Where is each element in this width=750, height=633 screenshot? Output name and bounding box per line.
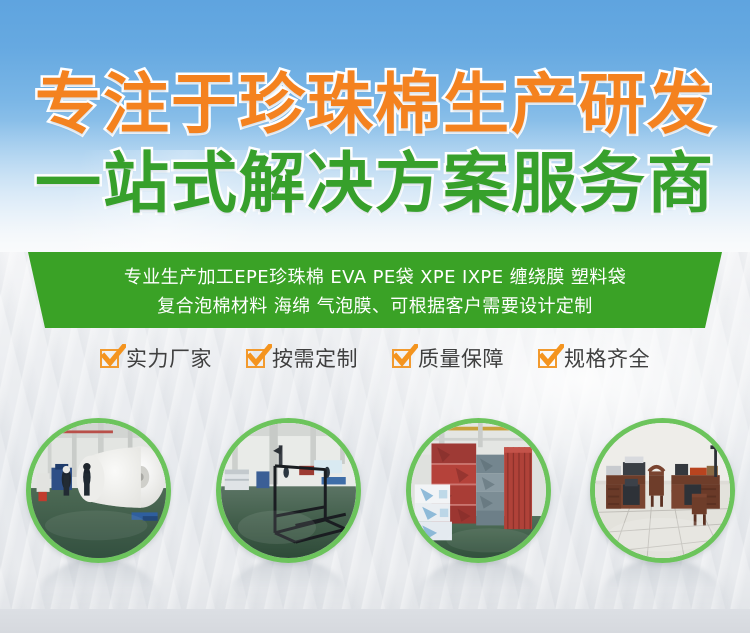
feature-item-2: 质量保障 bbox=[392, 343, 504, 373]
green-banner-text: 专业生产加工EPE珍珠棉 EVA PE袋 XPE IXPE 缠绕膜 塑料袋 复合… bbox=[0, 252, 750, 328]
feature-item-3: 规格齐全 bbox=[538, 343, 650, 373]
check-box-icon bbox=[538, 349, 557, 368]
photo-epe-foam-roll-production bbox=[26, 418, 171, 563]
feature-label-0: 实力厂家 bbox=[126, 343, 212, 373]
bottom-band bbox=[0, 609, 750, 633]
check-box-icon bbox=[392, 349, 411, 368]
headline-line-2: 一站式解决方案服务商 bbox=[0, 151, 750, 217]
photo-office-interior bbox=[590, 418, 735, 563]
feature-label-3: 规格齐全 bbox=[564, 343, 650, 373]
photo-stacked-packaged-products bbox=[406, 418, 551, 563]
photo-warehouse-metal-frame bbox=[216, 418, 361, 563]
headline-block: 专注于珍珠棉生产研发 一站式解决方案服务商 bbox=[0, 72, 750, 217]
check-box-icon bbox=[100, 349, 119, 368]
feature-item-0: 实力厂家 bbox=[100, 343, 212, 373]
feature-label-1: 按需定制 bbox=[272, 343, 358, 373]
feature-label-2: 质量保障 bbox=[418, 343, 504, 373]
green-banner-line-1: 专业生产加工EPE珍珠棉 EVA PE袋 XPE IXPE 缠绕膜 塑料袋 bbox=[124, 263, 626, 289]
check-box-icon bbox=[246, 349, 265, 368]
feature-item-1: 按需定制 bbox=[246, 343, 358, 373]
green-banner-line-2: 复合泡棉材料 海绵 气泡膜、可根据客户需要设计定制 bbox=[157, 292, 592, 318]
feature-list: 实力厂家 按需定制 质量保障 规格齐全 bbox=[0, 337, 750, 379]
headline-line-1: 专注于珍珠棉生产研发 bbox=[0, 72, 750, 138]
promo-banner: 专注于珍珠棉生产研发 一站式解决方案服务商 专业生产加工EPE珍珠棉 EVA P… bbox=[0, 0, 750, 633]
